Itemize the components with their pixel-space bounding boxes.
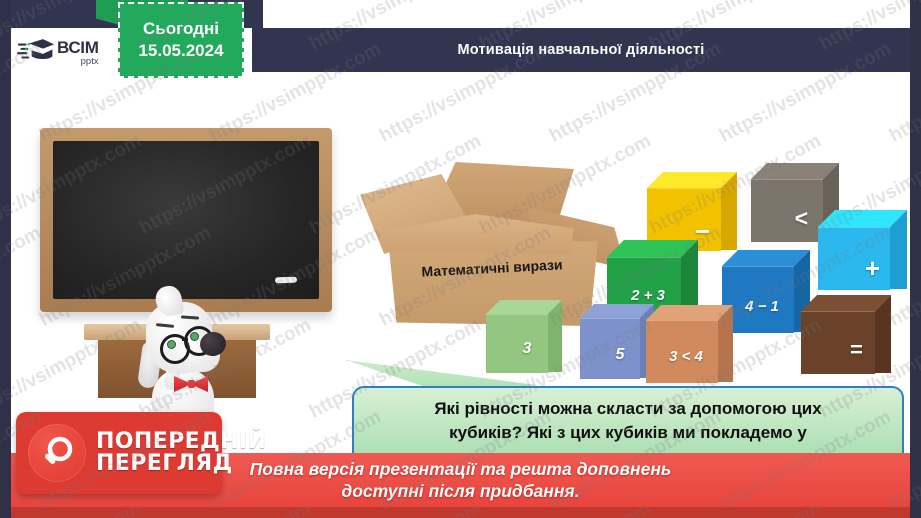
today-value: 15.05.2024 bbox=[138, 42, 223, 61]
glasses-bridge bbox=[182, 338, 188, 341]
cube-top-face bbox=[646, 305, 733, 320]
cube-front-face bbox=[580, 318, 640, 379]
math-cube: = bbox=[801, 295, 891, 373]
brand-name: ВСІМ bbox=[57, 39, 99, 56]
math-cube: + bbox=[818, 210, 907, 289]
bow-tie-icon bbox=[174, 376, 208, 392]
today-date-badge: Сьогодні 15.05.2024 bbox=[118, 2, 244, 78]
today-label: Сьогодні bbox=[143, 20, 219, 39]
banner-bottom-strip bbox=[11, 507, 910, 518]
chalk-icon bbox=[275, 277, 297, 284]
cube-front-face bbox=[751, 179, 823, 242]
math-cube: 3 < 4 bbox=[646, 305, 733, 382]
presentation-slide: Мотивація навчальної діяльності bbox=[0, 0, 921, 518]
math-cube: 4 − 1 bbox=[722, 250, 810, 332]
cube-front-face bbox=[486, 314, 548, 373]
question-line-2: кубиків? Які з цих кубиків ми покладемо … bbox=[380, 421, 876, 445]
brand-logo-text: ВСІМ pptx bbox=[57, 39, 99, 67]
purchase-notice-line-1: Повна версія презентації та решта доповн… bbox=[250, 458, 672, 480]
brand-suffix: pptx bbox=[57, 57, 99, 67]
math-cube: 5 bbox=[580, 304, 654, 378]
cube-front-face bbox=[801, 311, 875, 374]
chalkboard-surface bbox=[53, 141, 319, 299]
dog-character bbox=[126, 280, 246, 430]
preview-badge-text: ПОПЕРЕДНІЙ ПЕРЕГЛЯД bbox=[96, 431, 266, 476]
magnifier-icon bbox=[28, 424, 86, 482]
purchase-notice-line-2: доступні після придбання. bbox=[341, 480, 579, 502]
slide-frame-left bbox=[0, 0, 11, 518]
brand-logo[interactable]: ВСІМ pptx bbox=[11, 28, 121, 78]
cube-front-face bbox=[646, 320, 718, 383]
question-line-1: Які рівності можна скласти за допомогою … bbox=[380, 397, 876, 421]
cube-front-face bbox=[818, 227, 890, 290]
slide-header-bar: Мотивація навчальної діяльності bbox=[252, 28, 910, 72]
preview-badge[interactable]: ПОПЕРЕДНІЙ ПЕРЕГЛЯД bbox=[16, 412, 222, 494]
graduation-cap-icon bbox=[17, 38, 55, 68]
preview-badge-line-2: ПЕРЕГЛЯД bbox=[96, 453, 266, 475]
math-cube: − bbox=[647, 172, 737, 250]
chalkboard-illustration bbox=[40, 128, 340, 398]
preview-badge-line-1: ПОПЕРЕДНІЙ bbox=[96, 431, 266, 453]
math-cube: 3 bbox=[486, 300, 562, 372]
page-title: Мотивація навчальної діяльності bbox=[458, 42, 705, 58]
slide-frame-right bbox=[910, 0, 921, 518]
